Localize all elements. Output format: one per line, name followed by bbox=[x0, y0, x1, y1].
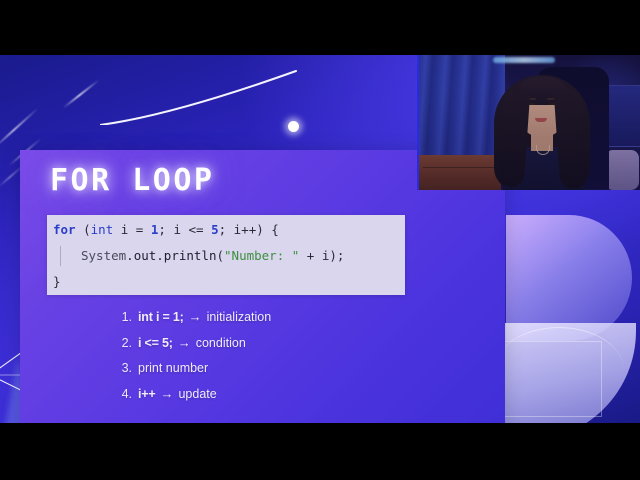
code-token: "Number: " bbox=[224, 248, 299, 263]
light-streak bbox=[62, 79, 99, 109]
loop-step-item: 4.i++→update bbox=[115, 387, 445, 401]
loop-step-item: 3.print number bbox=[115, 362, 445, 375]
code-token: ( bbox=[216, 248, 224, 263]
light-streak bbox=[0, 107, 39, 148]
arrow-icon: → bbox=[189, 310, 202, 323]
loop-step-number: 4. bbox=[115, 388, 132, 401]
loop-step-description: print number bbox=[138, 362, 208, 375]
code-token: println bbox=[164, 248, 217, 263]
code-token: . bbox=[156, 248, 164, 263]
code-token: i = bbox=[113, 222, 151, 237]
code-block: for (int i = 1; i <= 5; i++) {System.out… bbox=[47, 215, 405, 295]
webcam-color-tint bbox=[419, 55, 640, 190]
loop-step-item: 1.int i = 1;→initialization bbox=[115, 310, 445, 324]
letterbox-bar-bottom bbox=[0, 423, 640, 480]
loop-step-description: condition bbox=[196, 337, 246, 350]
loop-step-code: i <= 5; bbox=[138, 337, 173, 350]
code-token: + i); bbox=[299, 248, 344, 263]
code-token: int bbox=[91, 222, 114, 237]
loop-step-item: 2.i <= 5;→condition bbox=[115, 336, 445, 350]
presentation-slide-panel: FOR LOOP for (int i = 1; i <= 5; i++) {S… bbox=[20, 150, 505, 423]
swoosh-curve-decoration bbox=[100, 55, 320, 125]
code-line: for (int i = 1; i <= 5; i++) { bbox=[53, 217, 405, 243]
d-shape-lower-panel bbox=[488, 323, 636, 423]
code-token: System bbox=[81, 248, 126, 263]
code-token: } bbox=[53, 274, 61, 289]
arrow-icon: → bbox=[160, 387, 173, 400]
code-token: for bbox=[53, 222, 76, 237]
loop-step-number: 3. bbox=[115, 362, 132, 375]
code-line: System.out.println("Number: " + i); bbox=[53, 243, 405, 269]
slide-title: FOR LOOP bbox=[50, 163, 215, 198]
loop-steps-list: 1.int i = 1;→initialization2.i <= 5;→con… bbox=[115, 310, 445, 413]
swoosh-endpoint-dot bbox=[288, 121, 299, 132]
loop-step-code: int i = 1; bbox=[138, 311, 184, 324]
loop-step-description: update bbox=[178, 388, 216, 401]
loop-step-code: i++ bbox=[138, 388, 155, 401]
code-token: out bbox=[134, 248, 157, 263]
code-token: ( bbox=[76, 222, 91, 237]
code-token: 5 bbox=[211, 222, 219, 237]
code-token: ; i++) { bbox=[219, 222, 279, 237]
arrow-icon: → bbox=[178, 336, 191, 349]
loop-step-description: initialization bbox=[207, 311, 272, 324]
loop-step-number: 2. bbox=[115, 337, 132, 350]
d-shape-arc-line bbox=[494, 327, 624, 414]
d-shape-upper-arc bbox=[506, 215, 632, 341]
loop-step-number: 1. bbox=[115, 311, 132, 324]
letterbox-bar-top bbox=[0, 0, 640, 55]
presenter-webcam[interactable] bbox=[417, 55, 640, 190]
code-token: . bbox=[126, 248, 134, 263]
code-token: ; i <= bbox=[158, 222, 211, 237]
video-player-stage: FOR LOOP for (int i = 1; i <= 5; i++) {S… bbox=[0, 0, 640, 480]
code-line: } bbox=[53, 269, 405, 295]
